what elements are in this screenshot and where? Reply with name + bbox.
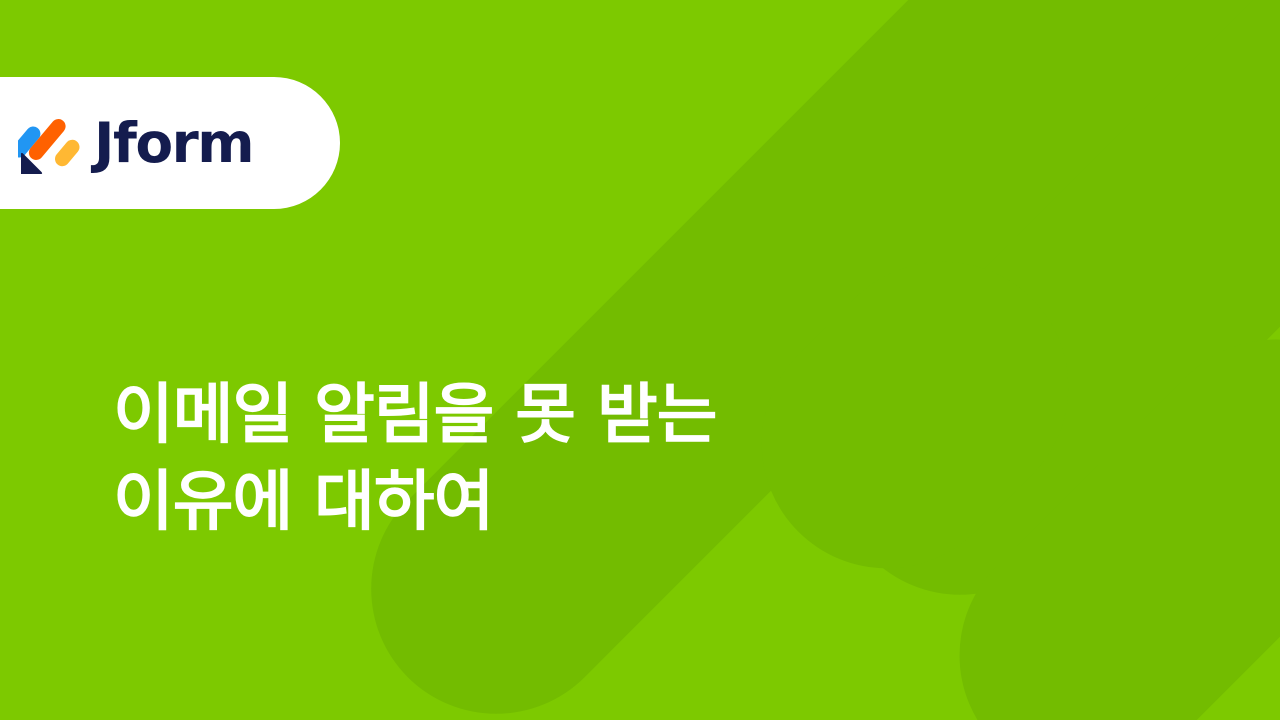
- diagonal-capsule-shape: [783, 0, 1280, 647]
- promo-banner: Jform 이메일 알림을 못 받는 이유에 대하여: [0, 0, 1280, 720]
- diagonal-capsule-shape: [319, 0, 1280, 720]
- brand-wordmark: Jform: [94, 116, 253, 171]
- jform-logo-icon: [18, 112, 80, 174]
- banner-headline: 이메일 알림을 못 받는 이유에 대하여: [113, 371, 1013, 545]
- brand-logo-pill[interactable]: Jform: [0, 77, 340, 209]
